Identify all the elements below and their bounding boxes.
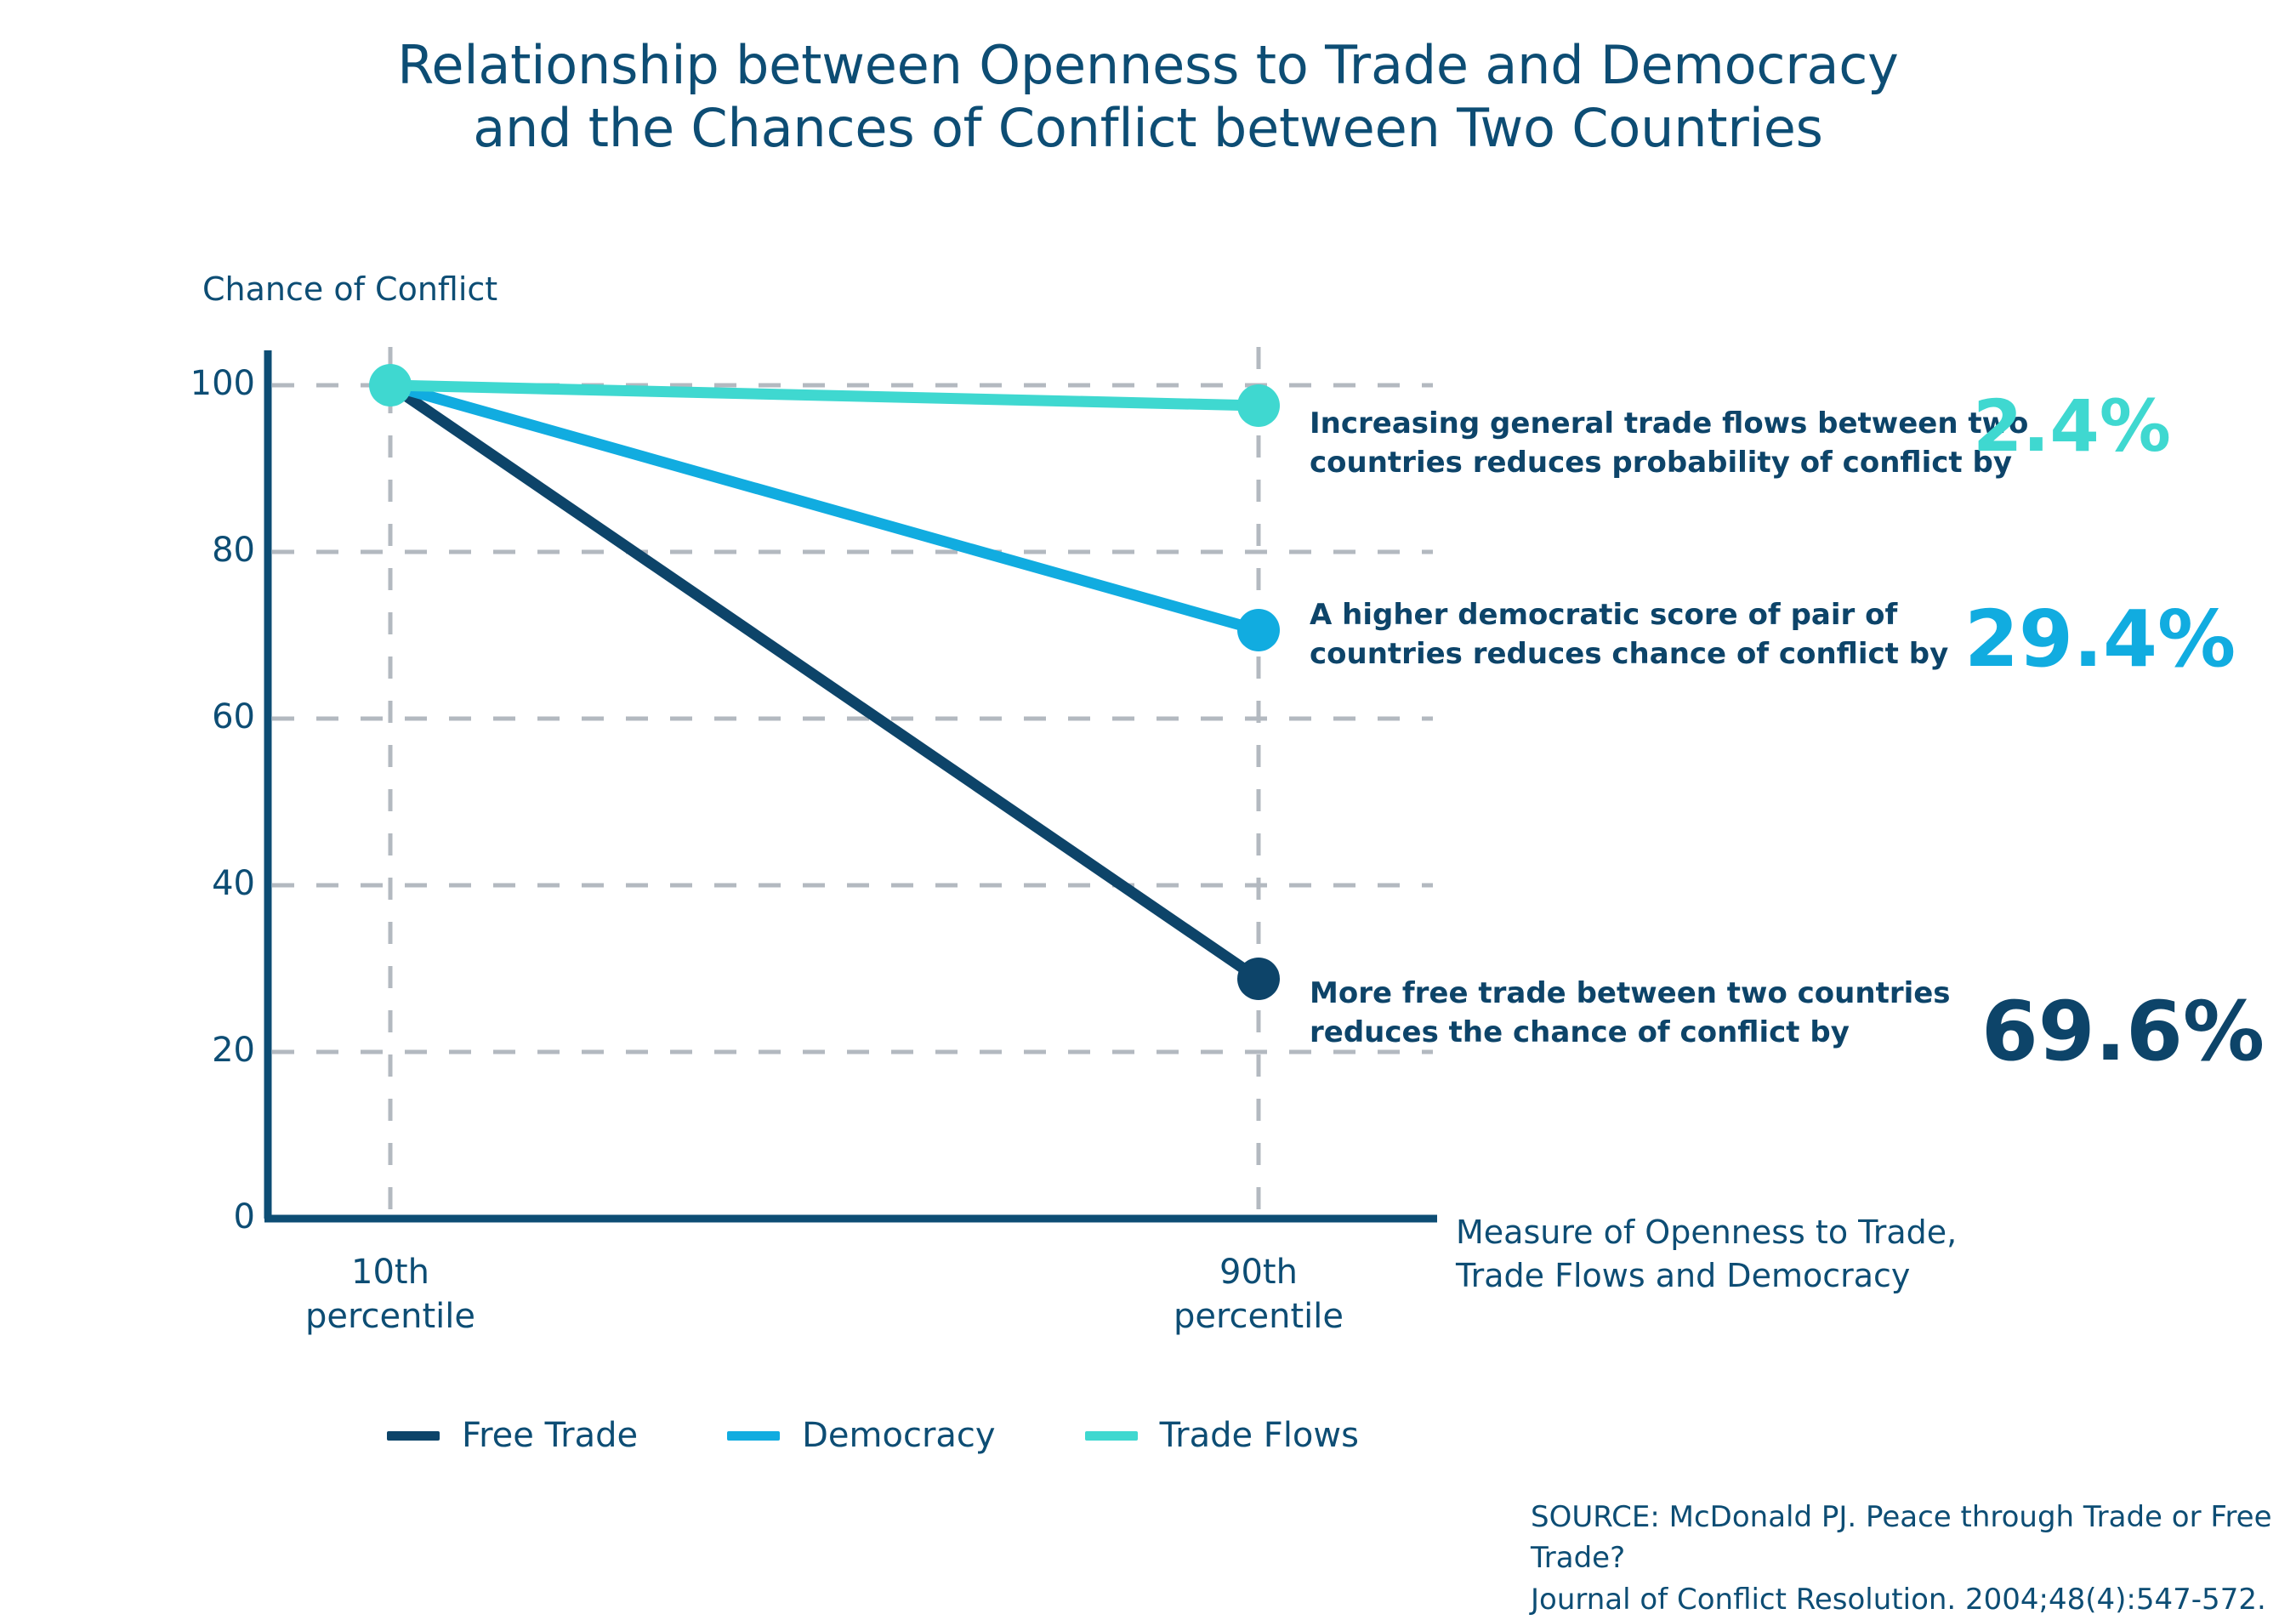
legend-swatch-democracy [727, 1431, 780, 1441]
y-axis-title: Chance of Conflict [202, 270, 497, 308]
chart-legend: Free Trade Democracy Trade Flows [387, 1416, 1448, 1455]
chart-area: Chance of Conflict 100 80 60 40 20 0 10t… [0, 0, 2296, 1615]
annotation-trade-flows-line2: countries reduces probability of conflic… [1310, 443, 2028, 482]
annotation-free-trade-text: More free trade between two countries re… [1310, 974, 1951, 1052]
annotation-democracy-value: 29.4% [1964, 600, 2236, 679]
annotation-free-trade-line1: More free trade between two countries [1310, 974, 1951, 1013]
source-line-2: Journal of Conflict Resolution. 2004;48(… [1531, 1579, 2279, 1620]
series-line-free-trade [390, 385, 1259, 979]
legend-item-democracy[interactable]: Democracy [727, 1416, 995, 1455]
x-tick-10th-percentile: 10th percentile [220, 1250, 560, 1339]
y-tick-60: 60 [162, 697, 255, 736]
legend-label-trade-flows: Trade Flows [1160, 1416, 1359, 1455]
y-tick-100: 100 [162, 364, 255, 403]
y-tick-80: 80 [162, 531, 255, 570]
legend-item-trade-flows[interactable]: Trade Flows [1085, 1416, 1359, 1455]
legend-swatch-free-trade [387, 1431, 440, 1441]
annotation-free-trade-value: 69.6% [1981, 991, 2265, 1072]
marker-democracy-end [1237, 609, 1280, 651]
legend-label-democracy: Democracy [802, 1416, 995, 1455]
marker-trade-flows-end [1237, 384, 1280, 427]
annotation-free-trade: More free trade between two countries re… [1310, 974, 1951, 1052]
annotation-democracy-line2: countries reduces chance of conflict by [1310, 634, 1948, 674]
marker-free-trade-end [1237, 958, 1280, 1000]
annotation-trade-flows-value: 2.4% [1973, 390, 2171, 462]
y-tick-0: 0 [162, 1197, 255, 1236]
x-tick-90th-line2: percentile [1088, 1294, 1429, 1339]
x-tick-90th-percentile: 90th percentile [1088, 1250, 1429, 1339]
annotation-democracy: A higher democratic score of pair of cou… [1310, 595, 1948, 674]
legend-item-free-trade[interactable]: Free Trade [387, 1416, 638, 1455]
x-tick-10th-line1: 10th [220, 1250, 560, 1294]
x-tick-90th-line1: 90th [1088, 1250, 1429, 1294]
series-line-trade-flows [390, 385, 1259, 406]
annotation-trade-flows-line1: Increasing general trade flows between t… [1310, 404, 2028, 443]
annotation-trade-flows: Increasing general trade flows between t… [1310, 404, 2028, 482]
annotation-democracy-text: A higher democratic score of pair of cou… [1310, 595, 1948, 674]
annotation-trade-flows-text: Increasing general trade flows between t… [1310, 404, 2028, 482]
legend-swatch-trade-flows [1085, 1431, 1138, 1441]
y-tick-40: 40 [162, 864, 255, 903]
series-line-democracy [390, 385, 1259, 630]
x-axis-title-line1: Measure of Openness to Trade, [1456, 1211, 1957, 1254]
source-line-1: SOURCE: McDonald PJ. Peace through Trade… [1531, 1497, 2279, 1579]
legend-label-free-trade: Free Trade [462, 1416, 638, 1455]
marker-start-shared [369, 364, 412, 406]
y-tick-20: 20 [162, 1031, 255, 1070]
x-axis-title: Measure of Openness to Trade, Trade Flow… [1456, 1211, 1957, 1297]
annotation-free-trade-line2: reduces the chance of conflict by [1310, 1013, 1951, 1052]
line-chart [0, 0, 2296, 1615]
x-axis-title-line2: Trade Flows and Democracy [1456, 1254, 1957, 1298]
source-citation: SOURCE: McDonald PJ. Peace through Trade… [1531, 1497, 2279, 1620]
annotation-democracy-line1: A higher democratic score of pair of [1310, 595, 1948, 634]
x-tick-10th-line2: percentile [220, 1294, 560, 1339]
